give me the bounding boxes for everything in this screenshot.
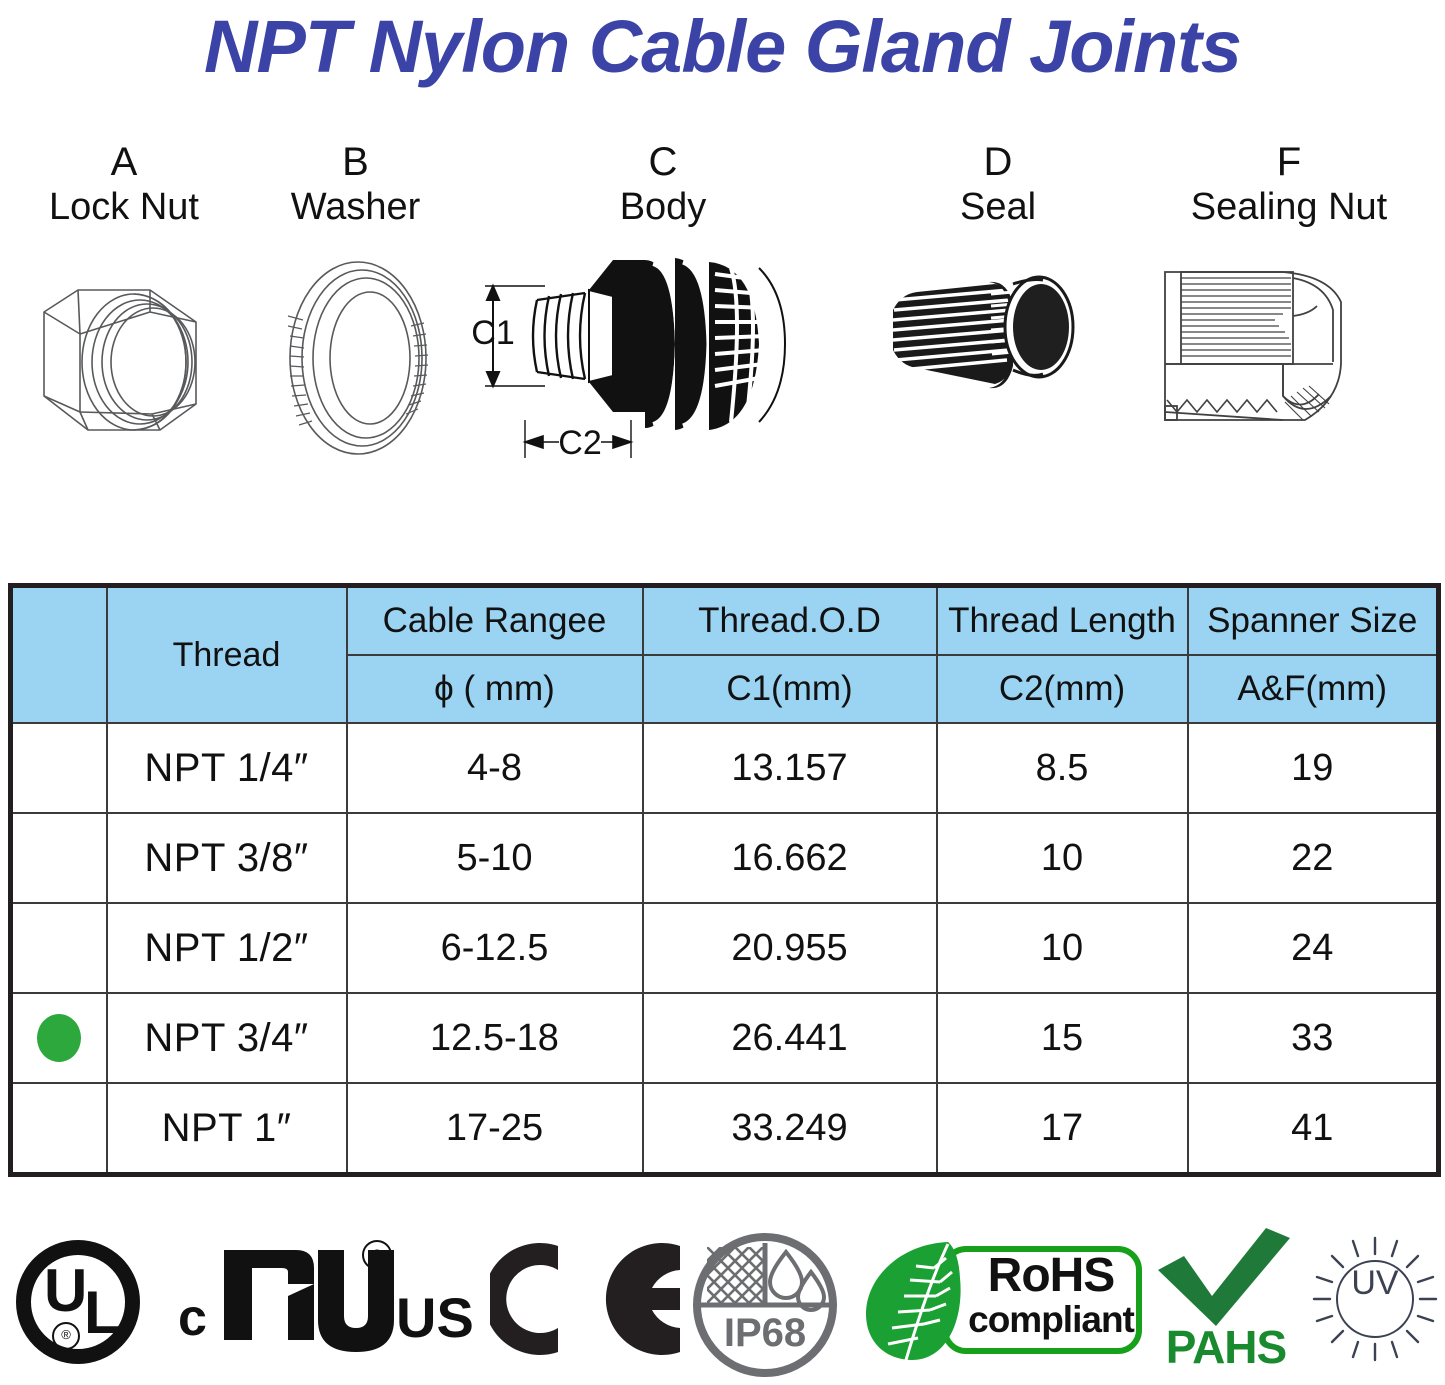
rohs-line-2: compliant [956, 1300, 1146, 1340]
cell-thread-length: 10 [937, 813, 1188, 903]
certification-bar: U L ® c ® US [0, 1218, 1445, 1379]
part-letter: A [0, 140, 248, 184]
row-marker [11, 813, 107, 903]
cell-thread: NPT 1/4″ [107, 723, 347, 813]
green-check-icon [1154, 1226, 1294, 1332]
cell-spanner: 24 [1188, 903, 1439, 993]
cell-thread-od: 13.157 [643, 723, 937, 813]
ul-letter-l: L [84, 1284, 121, 1342]
culus-prefix: c [178, 1292, 207, 1344]
cell-thread-length: 10 [937, 903, 1188, 993]
header-unit-c2: C2(mm) [937, 655, 1188, 723]
cell-thread: NPT 1″ [107, 1083, 347, 1175]
cell-thread: NPT 3/8″ [107, 813, 347, 903]
row-marker [11, 993, 107, 1083]
culus-mark-icon: c ® US [170, 1218, 470, 1379]
registered-mark: ® [52, 1322, 80, 1350]
selected-dot-icon [37, 1014, 81, 1062]
cell-thread-length: 15 [937, 993, 1188, 1083]
part-label: Washer [248, 184, 463, 230]
gland-body-icon: C1 [463, 244, 863, 474]
cell-thread-od: 26.441 [643, 993, 937, 1083]
ul-mark-icon: U L ® [8, 1218, 168, 1379]
header-thread: Thread [107, 586, 347, 724]
ce-mark-icon [490, 1218, 690, 1379]
header-thread-length: Thread Length [937, 586, 1188, 656]
part-letter: C [463, 140, 863, 184]
hex-lock-nut-icon [0, 244, 248, 474]
rohs-leaf-icon [860, 1238, 970, 1362]
table-row[interactable]: NPT 1/4″ 4-8 13.157 8.5 19 [11, 723, 1439, 813]
cell-thread: NPT 3/4″ [107, 993, 347, 1083]
ip68-mark-icon: IP68 [690, 1218, 860, 1379]
culus-suffix: US [396, 1290, 474, 1346]
cell-thread-od: 20.955 [643, 903, 937, 993]
table-header-row-1: Thread Cable Rangee Thread.O.D Thread Le… [11, 586, 1439, 656]
table-row-selected[interactable]: NPT 3/4″ 12.5-18 26.441 15 33 [11, 993, 1439, 1083]
seal-sleeve-icon [863, 244, 1133, 474]
cell-cable-range: 17-25 [347, 1083, 643, 1175]
pahs-label: PAHS [1150, 1322, 1302, 1372]
header-unit-phi: ϕ ( mm) [347, 655, 643, 723]
cell-spanner: 19 [1188, 723, 1439, 813]
cell-thread-od: 16.662 [643, 813, 937, 903]
part-letter: F [1133, 140, 1445, 184]
header-spanner-size: Spanner Size [1188, 586, 1439, 656]
rohs-mark-icon: RoHS compliant [860, 1218, 1150, 1379]
ul-letter-u: U [44, 1262, 87, 1320]
part-letter: D [863, 140, 1133, 184]
part-sealing-nut: F Sealing Nut [1133, 140, 1445, 474]
part-label: Sealing Nut [1133, 184, 1445, 230]
part-label: Lock Nut [0, 184, 248, 230]
washer-ring-icon [248, 244, 463, 474]
dim-c1-label: C1 [471, 314, 514, 352]
dim-c2-label: C2 [558, 424, 601, 462]
cell-thread-length: 17 [937, 1083, 1188, 1175]
part-letter: B [248, 140, 463, 184]
part-washer: B Washer [248, 140, 463, 474]
table-row[interactable]: NPT 1/2″ 6-12.5 20.955 10 24 [11, 903, 1439, 993]
cell-spanner: 22 [1188, 813, 1439, 903]
cell-cable-range: 4-8 [347, 723, 643, 813]
table-row[interactable]: NPT 1″ 17-25 33.249 17 41 [11, 1083, 1439, 1175]
part-lock-nut: A Lock Nut [0, 140, 248, 474]
part-label: Seal [863, 184, 1133, 230]
header-marker [11, 586, 107, 724]
part-body: C Body C1 [463, 140, 863, 474]
cell-spanner: 41 [1188, 1083, 1439, 1175]
row-marker [11, 1083, 107, 1175]
part-label: Body [463, 184, 863, 230]
parts-diagram: A Lock Nut B Washer [0, 140, 1445, 550]
cell-thread-length: 8.5 [937, 723, 1188, 813]
part-seal: D Seal [863, 140, 1133, 474]
specifications-table: Thread Cable Rangee Thread.O.D Thread Le… [8, 583, 1441, 1177]
cell-cable-range: 6-12.5 [347, 903, 643, 993]
uv-label: UV [1310, 1264, 1440, 1302]
registered-mark: ® [362, 1240, 392, 1270]
pahs-mark-icon: PAHS [1150, 1218, 1310, 1379]
rohs-line-1: RoHS [956, 1250, 1146, 1302]
header-thread-od: Thread.O.D [643, 586, 937, 656]
cell-thread: NPT 1/2″ [107, 903, 347, 993]
page-title: NPT Nylon Cable Gland Joints [0, 2, 1445, 92]
header-cable-range: Cable Rangee [347, 586, 643, 656]
table-row[interactable]: NPT 3/8″ 5-10 16.662 10 22 [11, 813, 1439, 903]
ip68-label: IP68 [724, 1311, 806, 1355]
uv-sun-icon: UV [1310, 1218, 1445, 1379]
header-unit-c1: C1(mm) [643, 655, 937, 723]
row-marker [11, 903, 107, 993]
cell-thread-od: 33.249 [643, 1083, 937, 1175]
cell-cable-range: 5-10 [347, 813, 643, 903]
cell-spanner: 33 [1188, 993, 1439, 1083]
row-marker [11, 723, 107, 813]
header-unit-af: A&F(mm) [1188, 655, 1439, 723]
sealing-nut-icon [1133, 244, 1445, 474]
cell-cable-range: 12.5-18 [347, 993, 643, 1083]
